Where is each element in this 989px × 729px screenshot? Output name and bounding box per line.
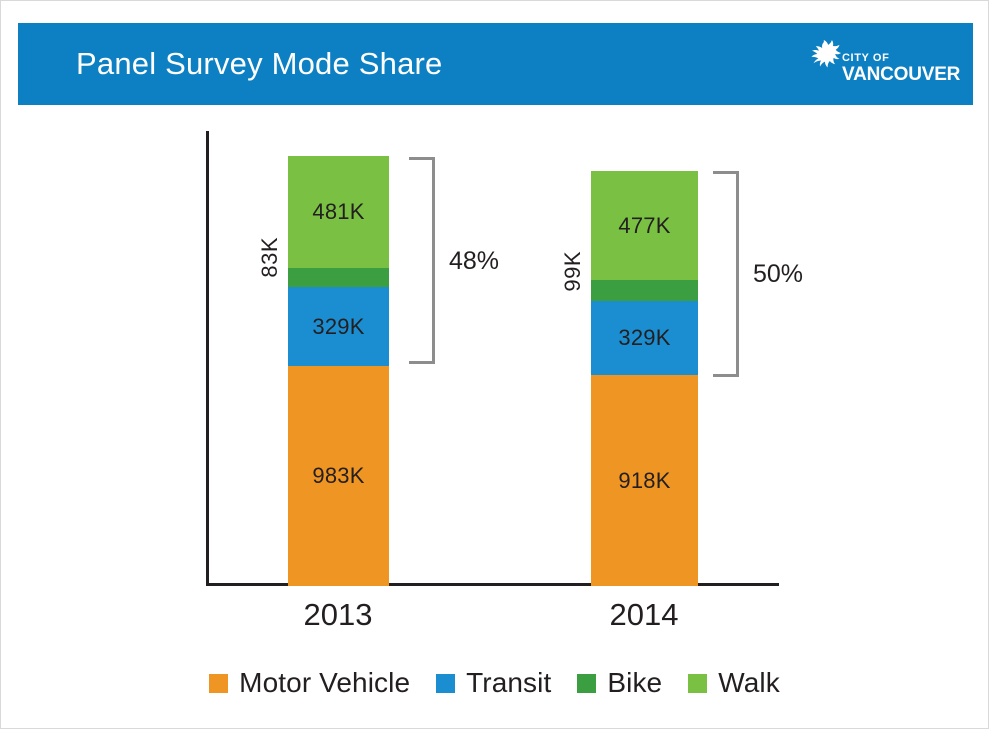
chart-legend: Motor Vehicle Transit Bike Walk	[1, 667, 988, 699]
bar-segment-label-walk-2014: 477K	[618, 213, 670, 239]
bar-segment-label-walk-2013: 481K	[312, 199, 364, 225]
bar-segment-label-motor-vehicle-2013: 983K	[312, 463, 364, 489]
bracket-2013	[409, 157, 435, 364]
header-banner: Panel Survey Mode Share CITY OF VANCOUVE…	[18, 23, 973, 105]
bar-segment-transit-2013[interactable]: 329K	[288, 287, 389, 366]
bar-group-2014: 477K 329K 918K	[591, 105, 698, 586]
bar-segment-bike-2013[interactable]	[288, 268, 389, 287]
legend-item-bike[interactable]: Bike	[577, 667, 662, 699]
bar-segment-walk-2014[interactable]: 477K	[591, 171, 698, 280]
slide-canvas: Panel Survey Mode Share CITY OF VANCOUVE…	[0, 0, 989, 729]
city-of-vancouver-logo: CITY OF VANCOUVER	[800, 37, 936, 91]
legend-swatch-bike	[577, 674, 596, 693]
bar-outside-label-bike-2014: 99K	[560, 251, 586, 292]
legend-item-walk[interactable]: Walk	[688, 667, 780, 699]
legend-item-transit[interactable]: Transit	[436, 667, 551, 699]
legend-swatch-transit	[436, 674, 455, 693]
bar-segment-walk-2013[interactable]: 481K	[288, 156, 389, 268]
bracket-label-2013: 48%	[449, 247, 499, 276]
stacked-bar-chart: 481K 329K 983K 83K 48% 2013 477K	[1, 105, 988, 728]
logo-text: CITY OF VANCOUVER	[842, 53, 960, 84]
bar-segment-label-transit-2013: 329K	[312, 314, 364, 340]
bar-segment-label-transit-2014: 329K	[618, 325, 670, 351]
bar-outside-label-bike-2013: 83K	[257, 237, 283, 278]
logo-vancouver-text: VANCOUVER	[842, 65, 960, 84]
logo-city-of-text: CITY OF	[842, 53, 960, 64]
legend-swatch-motor-vehicle	[209, 674, 228, 693]
bar-stack-2014[interactable]: 477K 329K 918K	[591, 171, 698, 586]
legend-item-motor-vehicle[interactable]: Motor Vehicle	[209, 667, 410, 699]
bar-group-2013: 481K 329K 983K	[288, 105, 389, 586]
legend-label-transit: Transit	[466, 667, 551, 699]
bar-segment-transit-2014[interactable]: 329K	[591, 301, 698, 375]
bar-segment-motor-vehicle-2013[interactable]: 983K	[288, 366, 389, 586]
legend-swatch-walk	[688, 674, 707, 693]
bar-segment-label-motor-vehicle-2014: 918K	[618, 468, 670, 494]
legend-label-walk: Walk	[718, 667, 780, 699]
x-tick-label-2014: 2014	[564, 597, 724, 633]
x-tick-label-2013: 2013	[258, 597, 418, 633]
bar-segment-motor-vehicle-2014[interactable]: 918K	[591, 375, 698, 586]
legend-label-bike: Bike	[607, 667, 662, 699]
legend-label-motor-vehicle: Motor Vehicle	[239, 667, 410, 699]
y-axis-line	[206, 131, 209, 586]
bracket-2014	[713, 171, 739, 377]
bracket-label-2014: 50%	[753, 260, 803, 289]
bar-segment-bike-2014[interactable]	[591, 280, 698, 301]
page-title: Panel Survey Mode Share	[76, 46, 442, 82]
bar-stack-2013[interactable]: 481K 329K 983K	[288, 156, 389, 586]
